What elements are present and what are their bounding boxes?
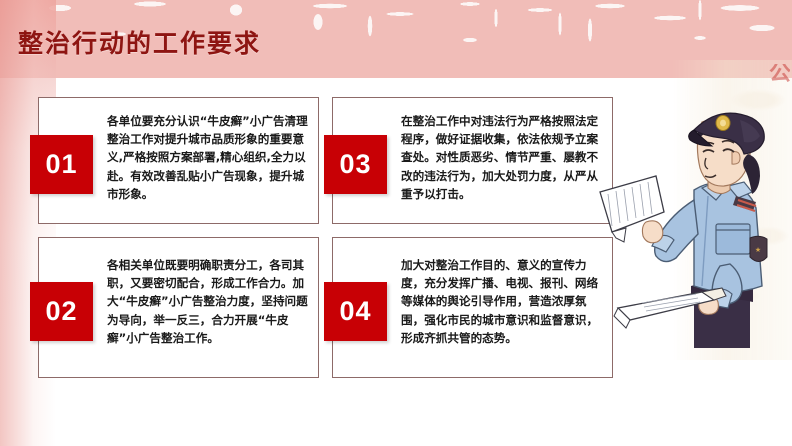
svg-text:★: ★: [755, 246, 761, 254]
card-body-text-03: 在整治工作中对违法行为严格按照法定程序，做好证据收集，依法依规予立案查处。对性质…: [401, 112, 604, 203]
slide-root: 公 整治行动的工作要求 01 各单位要充分认识“牛皮癣”小广告清理整治工作对提升…: [0, 0, 792, 446]
requirement-card-04: 04 加大对整治工作目的、意义的宣传力度，充分发挥广播、电视、报刊、网络等媒体的…: [332, 237, 613, 378]
card-body-text-01: 各单位要充分认识“牛皮癣”小广告清理整治工作对提升城市品质形象的重要意义,严格按…: [107, 112, 310, 203]
officer-hand-upper: [642, 221, 662, 243]
requirement-card-02: 02 各相关单位既要明确职责分工，各司其职，又要密切配合，形成工作合力。加大“牛…: [38, 237, 319, 378]
requirement-card-01: 01 各单位要充分认识“牛皮癣”小广告清理整治工作对提升城市品质形象的重要意义,…: [38, 97, 319, 224]
officer-sleeve-badge: ★: [750, 236, 767, 261]
officer-chest-pocket: [716, 224, 750, 254]
police-officer-illustration: ★: [590, 96, 790, 348]
card-number-badge-03: 03: [324, 135, 387, 194]
card-number-badge-04: 04: [324, 282, 387, 341]
card-body-text-04: 加大对整治工作目的、意义的宣传力度，充分发挥广播、电视、报刊、网络等媒体的舆论引…: [401, 256, 604, 347]
card-number-label: 03: [339, 149, 371, 180]
card-body-text-02: 各相关单位既要明确职责分工，各司其职，又要密切配合，形成工作合力。加大“牛皮癣”…: [107, 256, 310, 347]
card-number-label: 02: [45, 296, 77, 327]
cap-badge-icon: [716, 116, 730, 131]
card-number-label: 04: [339, 296, 371, 327]
card-number-badge-02: 02: [30, 282, 93, 341]
requirement-card-03: 03 在整治工作中对违法行为严格按照法定程序，做好证据收集，依法依规予立案查处。…: [332, 97, 613, 224]
card-number-badge-01: 01: [30, 135, 93, 194]
card-number-label: 01: [45, 149, 77, 180]
page-title: 整治行动的工作要求: [18, 24, 261, 60]
